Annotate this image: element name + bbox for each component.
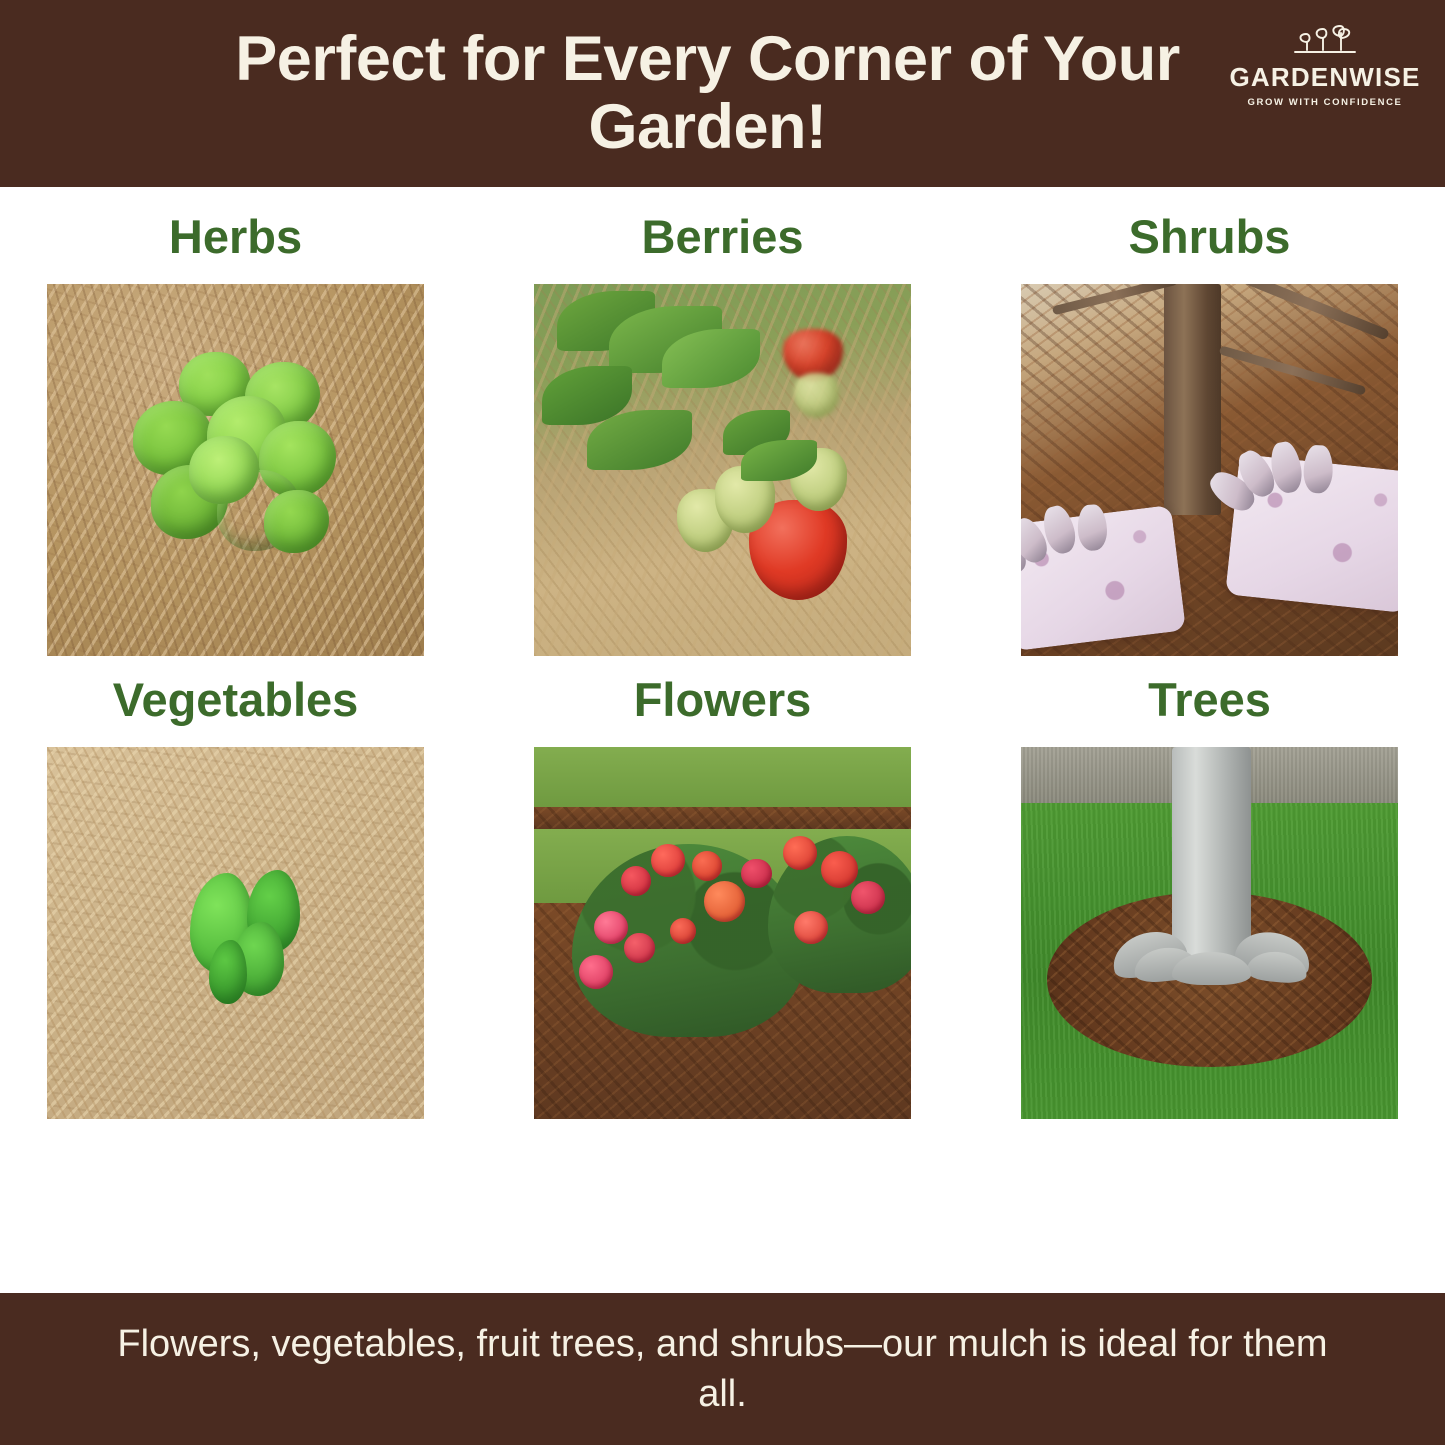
logo-tagline: GROW WITH CONFIDENCE — [1248, 97, 1403, 108]
category-label-vegetables: Vegetables — [113, 676, 359, 723]
sprout-leaves-icon — [1277, 22, 1373, 62]
grid-row: Vegetables Flowers — [47, 676, 1398, 1119]
photo-shrubs — [1021, 284, 1398, 656]
gardening-glove-right — [1225, 453, 1398, 612]
page-title: Perfect for Every Corner of Your Garden! — [208, 26, 1238, 161]
category-label-flowers: Flowers — [634, 676, 812, 723]
category-cell-trees: Trees — [1021, 676, 1398, 1119]
footer-tagline: Flowers, vegetables, fruit trees, and sh… — [110, 1319, 1335, 1419]
tree-trunk — [1172, 747, 1251, 970]
category-cell-flowers: Flowers — [534, 676, 911, 1119]
header-band: Perfect for Every Corner of Your Garden!… — [0, 0, 1445, 187]
gardening-glove-left — [1021, 505, 1186, 652]
photo-vegetables — [47, 747, 424, 1119]
category-label-herbs: Herbs — [169, 213, 302, 260]
grid-row: Herbs Berries — [47, 213, 1398, 656]
category-label-trees: Trees — [1148, 676, 1271, 723]
category-cell-shrubs: Shrubs — [1021, 213, 1398, 656]
photo-berries — [534, 284, 911, 656]
photo-herbs — [47, 284, 424, 656]
category-grid: Herbs Berries — [0, 187, 1445, 1293]
category-label-berries: Berries — [642, 213, 804, 260]
photo-trees — [1021, 747, 1398, 1119]
category-cell-herbs: Herbs — [47, 213, 424, 656]
poster-root: Perfect for Every Corner of Your Garden!… — [0, 0, 1445, 1445]
herb-plant — [119, 347, 353, 593]
category-cell-vegetables: Vegetables — [47, 676, 424, 1119]
brand-logo: GARDENWISE GROW WITH CONFIDENCE — [1225, 22, 1425, 108]
category-label-shrubs: Shrubs — [1129, 213, 1291, 260]
footer-band: Flowers, vegetables, fruit trees, and sh… — [0, 1293, 1445, 1445]
logo-wordmark: GARDENWISE — [1229, 64, 1420, 90]
category-cell-berries: Berries — [534, 213, 911, 656]
photo-flowers — [534, 747, 911, 1119]
